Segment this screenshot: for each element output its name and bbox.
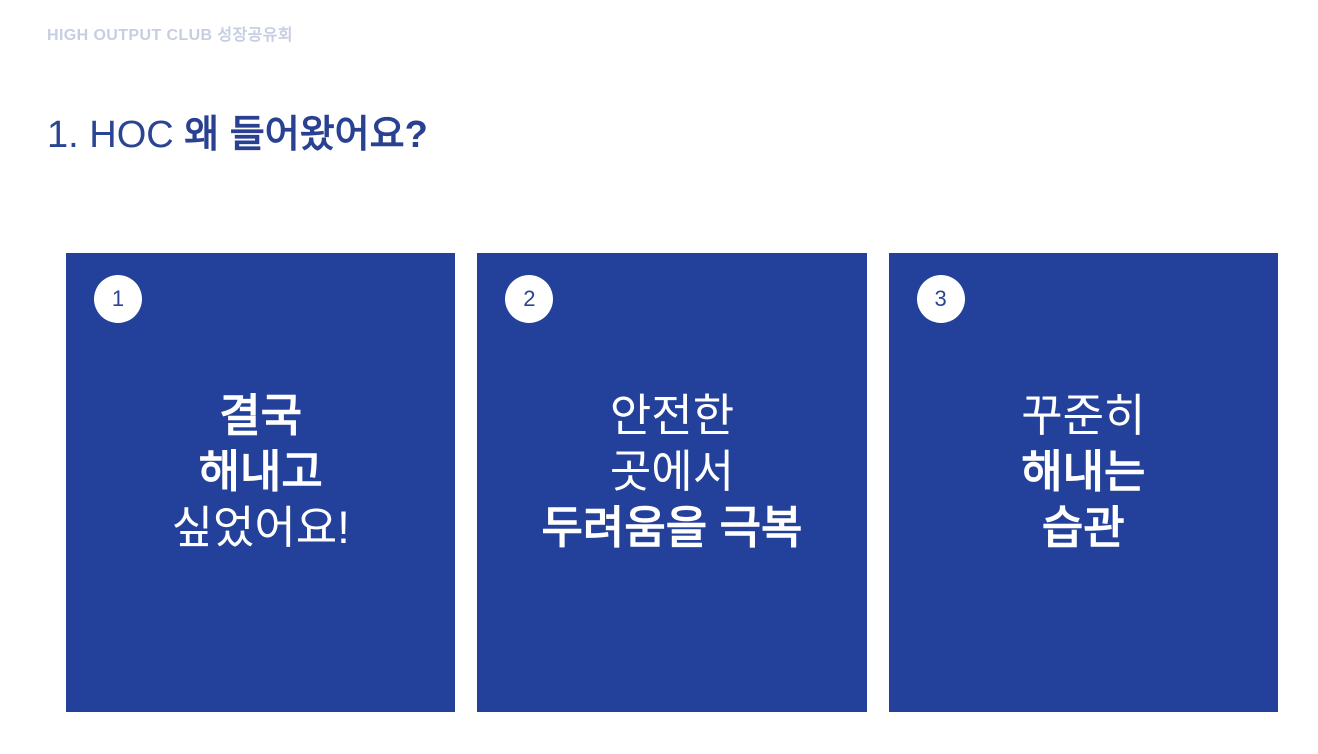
card-line: 결국 — [219, 388, 302, 444]
card-line: 싶었어요! — [172, 500, 350, 556]
card-text-3: 꾸준히 해내는 습관 — [889, 388, 1278, 556]
card-1[interactable]: 1 결국 해내고 싶었어요! — [66, 253, 455, 712]
card-text-1: 결국 해내고 싶었어요! — [66, 388, 455, 556]
card-line: 해내는 — [1021, 444, 1145, 500]
card-3[interactable]: 3 꾸준히 해내는 습관 — [889, 253, 1278, 712]
card-line: 안전한 — [610, 388, 734, 444]
card-2[interactable]: 2 안전한 곳에서 두려움을 극복 — [477, 253, 866, 712]
card-line: 곳에서 — [610, 444, 734, 500]
card-line: 해내고 — [199, 444, 323, 500]
card-badge-3: 3 — [917, 275, 965, 323]
slide: HIGH OUTPUT CLUB 성장공유회 1. HOC 왜 들어왔어요? 1… — [0, 0, 1318, 754]
card-row: 1 결국 해내고 싶었어요! 2 안전한 곳에서 두려움을 극복 3 꾸준히 해… — [66, 253, 1278, 712]
page-title-emphasis: 왜 들어왔어요? — [184, 114, 428, 156]
slide-eyebrow: HIGH OUTPUT CLUB 성장공유회 — [47, 26, 293, 45]
card-line: 두려움을 극복 — [542, 500, 803, 556]
card-line: 습관 — [1042, 500, 1125, 556]
page-title-prefix: 1. HOC — [47, 114, 184, 156]
card-badge-2: 2 — [505, 275, 553, 323]
card-badge-1: 1 — [94, 275, 142, 323]
page-title: 1. HOC 왜 들어왔어요? — [47, 112, 428, 160]
card-text-2: 안전한 곳에서 두려움을 극복 — [477, 388, 866, 556]
card-line: 꾸준히 — [1021, 388, 1145, 444]
